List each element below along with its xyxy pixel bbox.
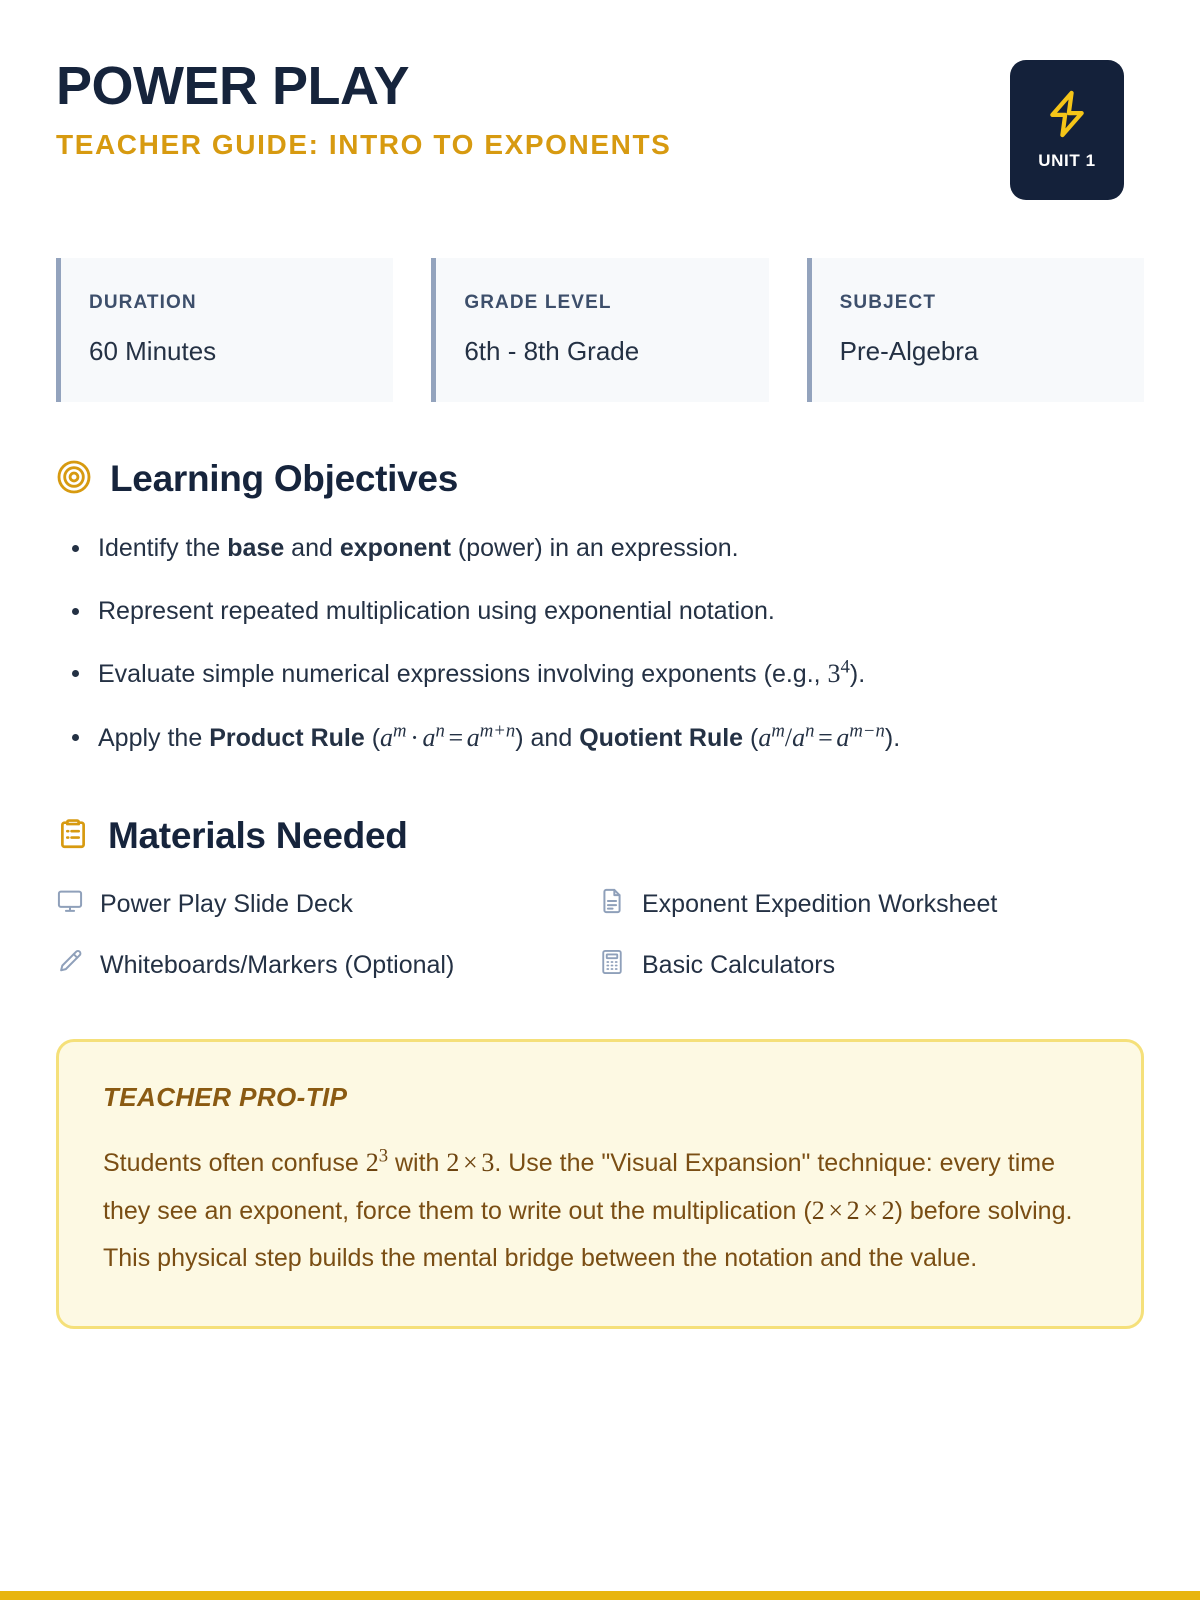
section-learning-objectives: Learning Objectives Identify the base an… (56, 458, 1144, 759)
material-item-worksheet: Exponent Expedition Worksheet (598, 887, 1116, 922)
teacher-pro-tip-callout: TEACHER PRO-TIP Students often confuse 2… (56, 1039, 1144, 1328)
info-card-value: Pre-Algebra (840, 336, 1144, 367)
pro-tip-title: TEACHER PRO-TIP (103, 1082, 1097, 1113)
info-card-value: 6th - 8th Grade (464, 336, 768, 367)
section-title: Learning Objectives (110, 458, 458, 500)
unit-badge-label: UNIT 1 (1038, 151, 1095, 171)
materials-grid: Power Play Slide Deck Exponent Expeditio… (56, 887, 1116, 983)
info-card-label: DURATION (89, 292, 393, 314)
info-card-label: SUBJECT (840, 292, 1144, 314)
section-header: Materials Needed (56, 815, 1144, 857)
material-item-whiteboards: Whiteboards/Markers (Optional) (56, 948, 574, 983)
objective-item: Identify the base and exponent (power) i… (56, 528, 1144, 569)
section-title: Materials Needed (108, 815, 408, 857)
pro-tip-body: Students often confuse 23 with 2×3. Use … (103, 1139, 1097, 1281)
target-icon (56, 459, 92, 500)
page-subtitle: TEACHER GUIDE: INTRO TO EXPONENTS (56, 129, 671, 161)
header-text-block: POWER PLAY TEACHER GUIDE: INTRO TO EXPON… (56, 56, 671, 161)
page-header: POWER PLAY TEACHER GUIDE: INTRO TO EXPON… (56, 48, 1144, 200)
objective-item: Evaluate simple numerical expressions in… (56, 653, 1144, 695)
objective-item: Apply the Product Rule (am·an=am+n) and … (56, 717, 1144, 759)
unit-badge: UNIT 1 (1010, 60, 1124, 200)
file-text-icon (598, 887, 626, 922)
info-card-label: GRADE LEVEL (464, 292, 768, 314)
info-card-duration: DURATION 60 Minutes (56, 258, 393, 402)
material-label: Exponent Expedition Worksheet (642, 890, 997, 919)
page-title: POWER PLAY (56, 58, 671, 115)
monitor-icon (56, 887, 84, 922)
objectives-list: Identify the base and exponent (power) i… (56, 528, 1144, 759)
info-card-row: DURATION 60 Minutes GRADE LEVEL 6th - 8t… (56, 258, 1144, 402)
objective-item: Represent repeated multiplication using … (56, 591, 1144, 632)
section-header: Learning Objectives (56, 458, 1144, 500)
footer-accent-bar (0, 1591, 1200, 1600)
lightning-bolt-icon (1045, 90, 1089, 143)
info-card-subject: SUBJECT Pre-Algebra (807, 258, 1144, 402)
info-card-value: 60 Minutes (89, 336, 393, 367)
section-materials-needed: Materials Needed Power Play Slide Deck (56, 815, 1144, 983)
material-item-slide-deck: Power Play Slide Deck (56, 887, 574, 922)
material-item-calculators: Basic Calculators (598, 948, 1116, 983)
material-label: Whiteboards/Markers (Optional) (100, 951, 454, 980)
pencil-icon (56, 948, 84, 983)
calculator-icon (598, 948, 626, 983)
teacher-guide-page: POWER PLAY TEACHER GUIDE: INTRO TO EXPON… (0, 0, 1200, 1329)
material-label: Basic Calculators (642, 951, 835, 980)
clipboard-list-icon (56, 817, 90, 856)
material-label: Power Play Slide Deck (100, 890, 353, 919)
info-card-grade-level: GRADE LEVEL 6th - 8th Grade (431, 258, 768, 402)
